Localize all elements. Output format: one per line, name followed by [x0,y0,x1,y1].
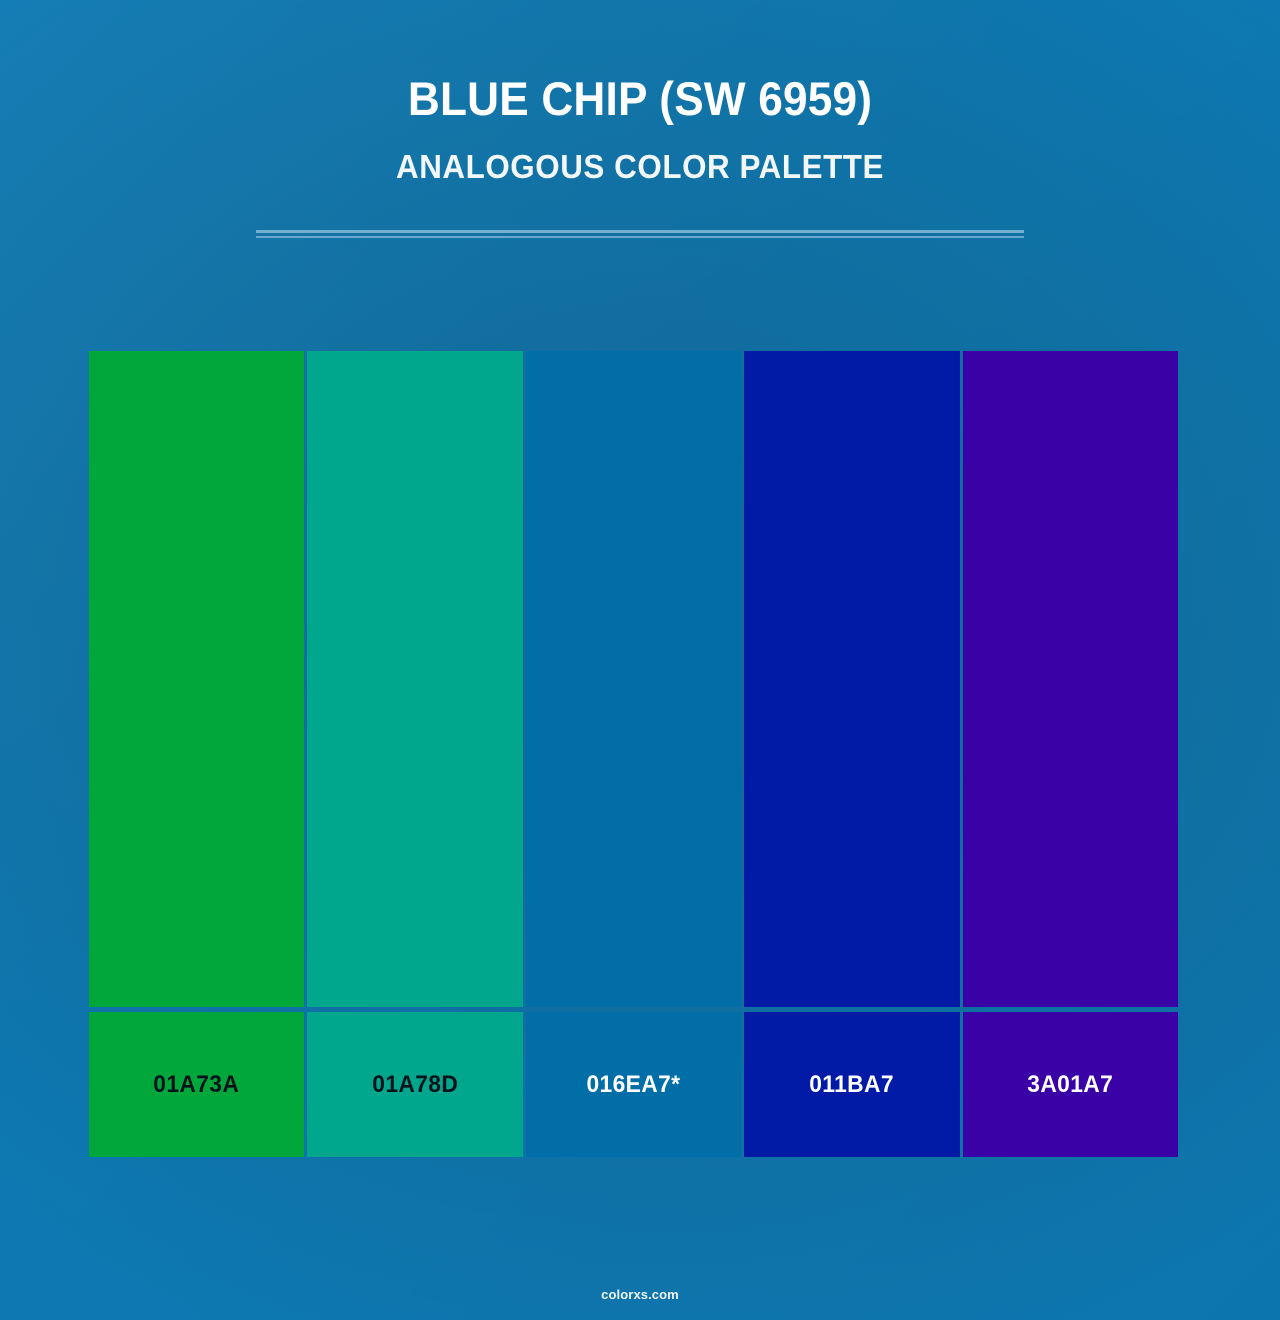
color-swatch-label-block[interactable]: 3A01A7 [963,1012,1178,1157]
page-footer: colorxs.com [0,1286,1280,1304]
color-hex-label: 011BA7 [810,1071,895,1099]
color-swatch-label-block[interactable]: 011BA7 [744,1012,959,1157]
header-divider [256,230,1024,239]
swatch-column[interactable]: 016EA7* [526,351,741,1157]
swatch-column[interactable]: 011BA7 [744,351,959,1157]
divider-line-top [256,230,1024,233]
color-swatch-label-block[interactable]: 01A73A [89,1012,304,1157]
color-swatch-label-block[interactable]: 01A78D [307,1012,522,1157]
page-subtitle: ANALOGOUS COLOR PALETTE [32,125,1248,185]
color-swatch[interactable] [307,351,522,1007]
divider-line-bottom [256,236,1024,238]
color-swatch-label-block[interactable]: 016EA7* [526,1012,741,1157]
swatch-column[interactable]: 3A01A7 [963,351,1178,1157]
page-header: BLUE CHIP (SW 6959) ANALOGOUS COLOR PALE… [0,0,1280,185]
color-swatch[interactable] [744,351,959,1007]
color-palette-grid: 01A73A01A78D016EA7*011BA73A01A7 [89,351,1178,1157]
color-hex-label: 016EA7* [587,1071,681,1099]
color-hex-label: 01A73A [154,1071,240,1099]
footer-brand-label: colorxs.com [601,1287,679,1302]
color-hex-label: 3A01A7 [1027,1071,1113,1099]
color-swatch[interactable] [89,351,304,1007]
swatch-column[interactable]: 01A78D [307,351,522,1157]
color-swatch[interactable] [526,351,741,1007]
color-hex-label: 01A78D [372,1071,458,1099]
color-swatch[interactable] [963,351,1178,1007]
swatch-column[interactable]: 01A73A [89,351,304,1157]
page-title: BLUE CHIP (SW 6959) [38,0,1241,125]
palette-page: BLUE CHIP (SW 6959) ANALOGOUS COLOR PALE… [0,0,1280,1320]
